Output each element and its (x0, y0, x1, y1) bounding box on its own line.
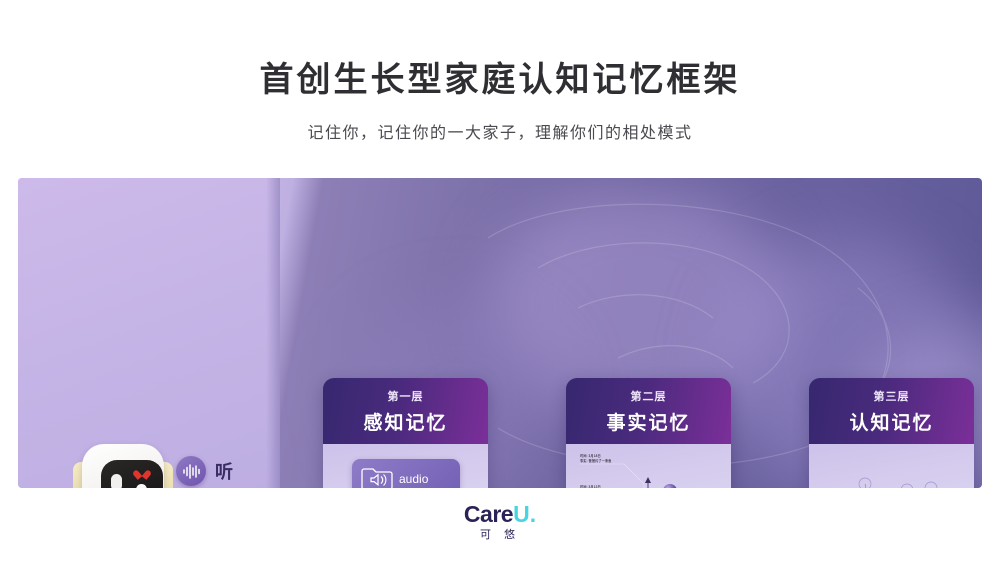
sense-list: 听 看 触 (176, 456, 256, 488)
robot-head (82, 444, 164, 488)
plot-annotation: 时间: 3月18日 (580, 453, 601, 458)
layer-title: 事实记忆 (606, 408, 690, 435)
left-intro-panel: CareU. 可 悠 听 (18, 178, 280, 488)
layer-card-3-header: 第三层 认知记忆 (809, 378, 974, 444)
layer-card-1-body: audio image (323, 444, 488, 488)
three-d-scatter-plot: 时间: 3月18日 事实: 爸爸约了一条鱼 时间: 3月13日 事实: 爷爷和爸… (566, 444, 731, 488)
layer-card-3[interactable]: 第三层 认知记忆 (809, 378, 974, 488)
modality-label: audio (399, 472, 428, 486)
brand-chinese: 可 悠 (0, 530, 1000, 541)
robot-face-screen (101, 460, 163, 488)
connector-extract-summarize: 提取 总结 (496, 484, 556, 488)
page-header: 首创生长型家庭认知记忆框架 记住你，记住你的一大家子，理解你们的相处模式 (0, 0, 1000, 178)
knowledge-graph (809, 444, 974, 488)
layer-title: 认知记忆 (849, 408, 933, 435)
layer-card-1-header: 第一层 感知记忆 (323, 378, 488, 444)
plot-annotation: 时间: 3月13日 (580, 484, 601, 488)
robot-mouth-icon (136, 484, 147, 488)
robot-illustration (73, 436, 173, 488)
framework-banner: CareU. 可 悠 听 (18, 178, 982, 488)
layer-card-2-header: 第二层 事实记忆 (566, 378, 731, 444)
page-subtitle: 记住你，记住你的一大家子，理解你们的相处模式 (307, 119, 692, 143)
layer-card-3-body (809, 444, 974, 488)
sense-item-listen: 听 (176, 456, 256, 486)
sound-wave-icon (176, 456, 206, 486)
robot-eye-icon (111, 474, 122, 488)
plot-annotation: 事实: 爸爸约了一条鱼 (580, 458, 612, 463)
layer-index-label: 第二层 (631, 388, 667, 404)
brand-word-dark: Care (464, 501, 513, 527)
connector-cluster-deduce: 聚类 推演 (739, 484, 799, 488)
brand-word-accent: U. (513, 501, 536, 527)
page-title: 首创生长型家庭认知记忆框架 (260, 62, 741, 99)
layer-index-label: 第一层 (388, 388, 424, 404)
layer-card-2-body: 时间: 3月18日 事实: 爸爸约了一条鱼 时间: 3月13日 事实: 爷爷和爸… (566, 444, 731, 488)
sense-label: 听 (215, 458, 233, 484)
footer-brand-logo: CareU. 可 悠 (0, 503, 1000, 541)
layer-index-label: 第三层 (874, 388, 910, 404)
layer-title: 感知记忆 (363, 408, 447, 435)
layer-card-2[interactable]: 第二层 事实记忆 (566, 378, 731, 488)
folder-audio-icon (357, 462, 397, 488)
heart-icon (137, 469, 148, 479)
layer-card-1[interactable]: 第一层 感知记忆 audio (323, 378, 488, 488)
modality-tile-audio[interactable]: audio (352, 459, 460, 488)
